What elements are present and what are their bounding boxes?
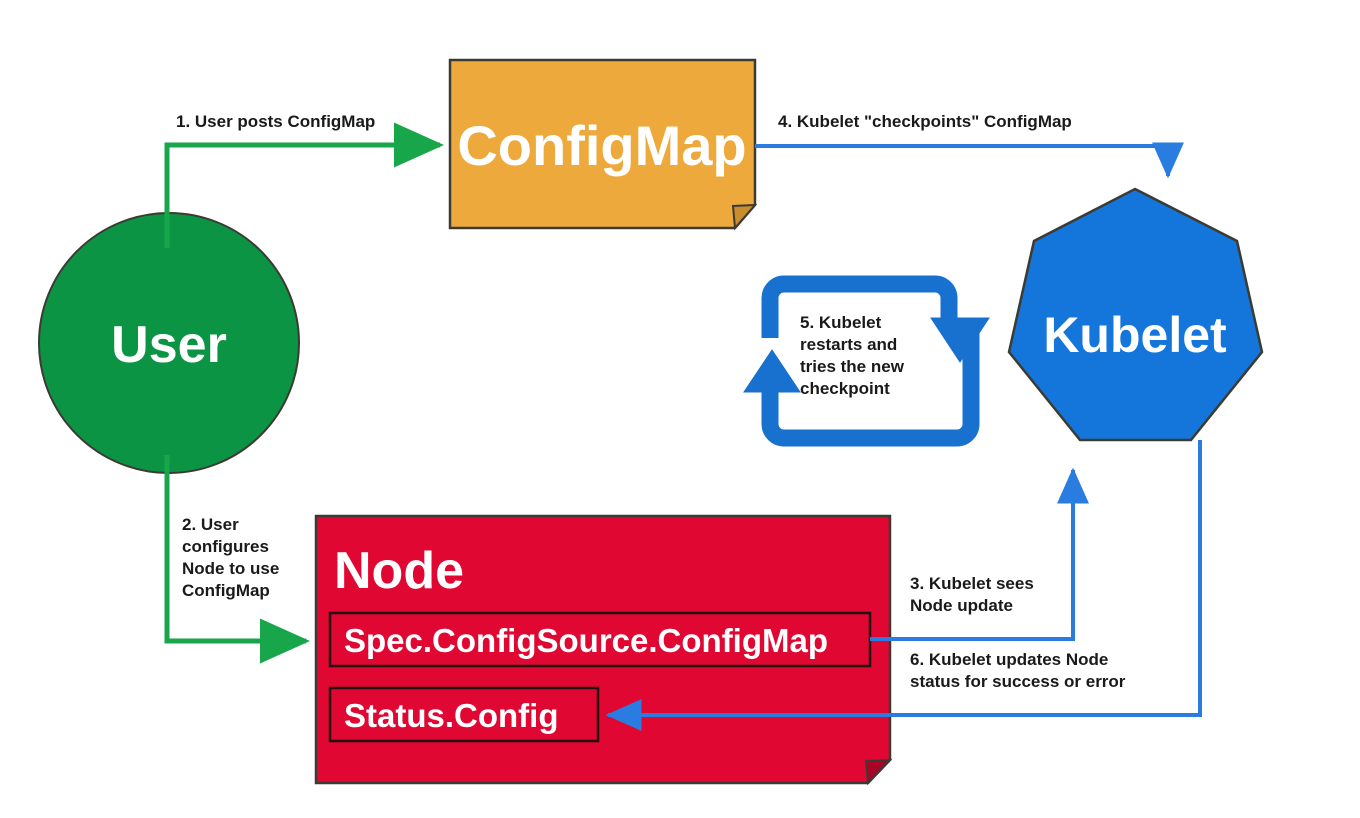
user-label: User (111, 316, 227, 374)
node-field-status-label: Status.Config (344, 697, 558, 734)
node-title: Node (334, 542, 464, 600)
diagram-canvas: User ConfigMap Kubelet Node Spec.ConfigS… (0, 0, 1360, 818)
configmap-label: ConfigMap (457, 114, 746, 177)
node-configmap: ConfigMap (450, 60, 755, 228)
kubelet-configmap-diagram: User ConfigMap Kubelet Node Spec.ConfigS… (0, 0, 1360, 818)
step-1-label: 1. User posts ConfigMap (176, 112, 375, 131)
node-user: User (39, 213, 299, 473)
step-4-label: 4. Kubelet "checkpoints" ConfigMap (778, 112, 1072, 131)
node-node: Node Spec.ConfigSource.ConfigMap Status.… (316, 516, 890, 783)
kubelet-label: Kubelet (1043, 307, 1227, 363)
node-field-spec-label: Spec.ConfigSource.ConfigMap (344, 622, 828, 659)
